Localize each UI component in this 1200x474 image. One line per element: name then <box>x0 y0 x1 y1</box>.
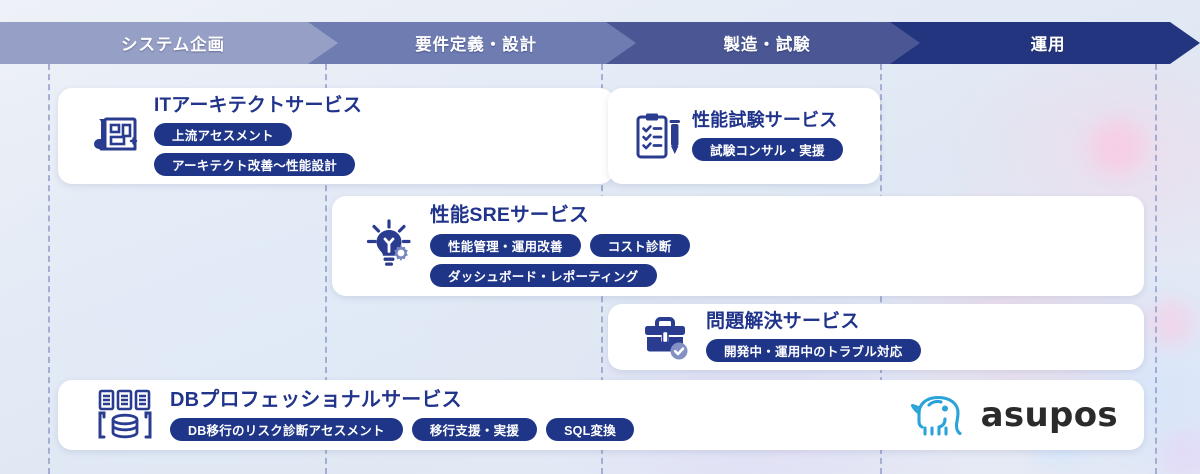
phase-label: 要件定義・設計 <box>409 31 537 55</box>
phase-arrow-bar: システム企画 要件定義・設計 製造・試験 運用 <box>0 22 1200 64</box>
card-title: 性能試験サービス <box>692 111 866 131</box>
service-tag[interactable]: アーキテクト改善～性能設計 <box>154 153 355 176</box>
tag-row: ダッシュボード・レポーティング <box>430 264 1128 287</box>
card-body: 問題解決サービス 開発中・運用中のトラブル対応 <box>706 312 1128 363</box>
tag-row: 上流アセスメント <box>154 123 598 146</box>
service-card-db-professional[interactable]: DBプロフェッショナルサービス DB移行のリスク診断アセスメント 移行支援・実援… <box>58 380 1144 450</box>
phase-label: 製造・試験 <box>717 31 810 55</box>
service-card-it-architect[interactable]: ITアーキテクトサービス 上流アセスメント アーキテクト改善～性能設計 <box>58 88 614 184</box>
blueprint-icon <box>80 110 154 162</box>
card-body: DBプロフェッショナルサービス DB移行のリスク診断アセスメント 移行支援・実援… <box>170 389 1128 441</box>
tag-row: 開発中・運用中のトラブル対応 <box>706 339 1128 362</box>
asupos-logo: asupos <box>909 393 1118 437</box>
phase-divider <box>1155 64 1157 474</box>
phase-arrow-system-planning[interactable]: システム企画 <box>0 22 340 64</box>
card-body: ITアーキテクトサービス 上流アセスメント アーキテクト改善～性能設計 <box>154 96 598 177</box>
logo-wordmark: asupos <box>981 395 1118 435</box>
service-tag[interactable]: 開発中・運用中のトラブル対応 <box>706 339 921 362</box>
lightbulb-gear-icon <box>354 217 430 275</box>
tag-row: アーキテクト改善～性能設計 <box>154 153 598 176</box>
clipboard-checklist-icon <box>626 111 692 161</box>
service-tag[interactable]: 移行支援・実援 <box>412 418 537 441</box>
service-tag[interactable]: コスト診断 <box>590 234 690 257</box>
card-title: 性能SREサービス <box>430 205 1128 226</box>
service-tag[interactable]: 試験コンサル・実援 <box>692 138 843 161</box>
phase-arrow-build-test[interactable]: 製造・試験 <box>606 22 922 64</box>
card-title: 問題解決サービス <box>706 312 1128 333</box>
service-tag[interactable]: 上流アセスメント <box>154 123 292 146</box>
phase-divider <box>48 64 50 474</box>
phase-label: システム企画 <box>115 31 225 55</box>
background-bokeh <box>1160 430 1200 474</box>
background-streak <box>953 57 1200 181</box>
service-tag[interactable]: SQL変換 <box>546 418 634 441</box>
diagram-canvas: システム企画 要件定義・設計 製造・試験 運用 ITアーキテクトサービス <box>0 0 1200 474</box>
phase-arrow-operation[interactable]: 運用 <box>890 22 1200 64</box>
tag-row: 試験コンサル・実援 <box>692 138 866 161</box>
card-title: ITアーキテクトサービス <box>154 96 598 117</box>
background-bokeh <box>1148 300 1194 346</box>
phase-label: 運用 <box>1025 31 1066 55</box>
service-tag[interactable]: ダッシュボード・レポーティング <box>430 264 657 287</box>
phase-arrow-requirements[interactable]: 要件定義・設計 <box>308 22 638 64</box>
elephant-icon <box>909 393 971 437</box>
service-card-performance-sre[interactable]: 性能SREサービス 性能管理・運用改善 コスト診断 ダッシュボード・レポーティン… <box>332 196 1144 296</box>
card-body: 性能SREサービス 性能管理・運用改善 コスト診断 ダッシュボード・レポーティン… <box>430 205 1128 286</box>
tag-row: 性能管理・運用改善 コスト診断 <box>430 234 1128 257</box>
background-bokeh <box>1090 120 1144 174</box>
service-tag[interactable]: 性能管理・運用改善 <box>430 234 581 257</box>
toolbox-check-icon <box>628 313 706 361</box>
service-card-performance-test[interactable]: 性能試験サービス 試験コンサル・実援 <box>608 88 880 184</box>
database-stack-icon <box>80 387 170 443</box>
card-body: 性能試験サービス 試験コンサル・実援 <box>692 111 866 161</box>
service-tag[interactable]: DB移行のリスク診断アセスメント <box>170 418 403 441</box>
service-card-problem-resolution[interactable]: 問題解決サービス 開発中・運用中のトラブル対応 <box>608 304 1144 370</box>
